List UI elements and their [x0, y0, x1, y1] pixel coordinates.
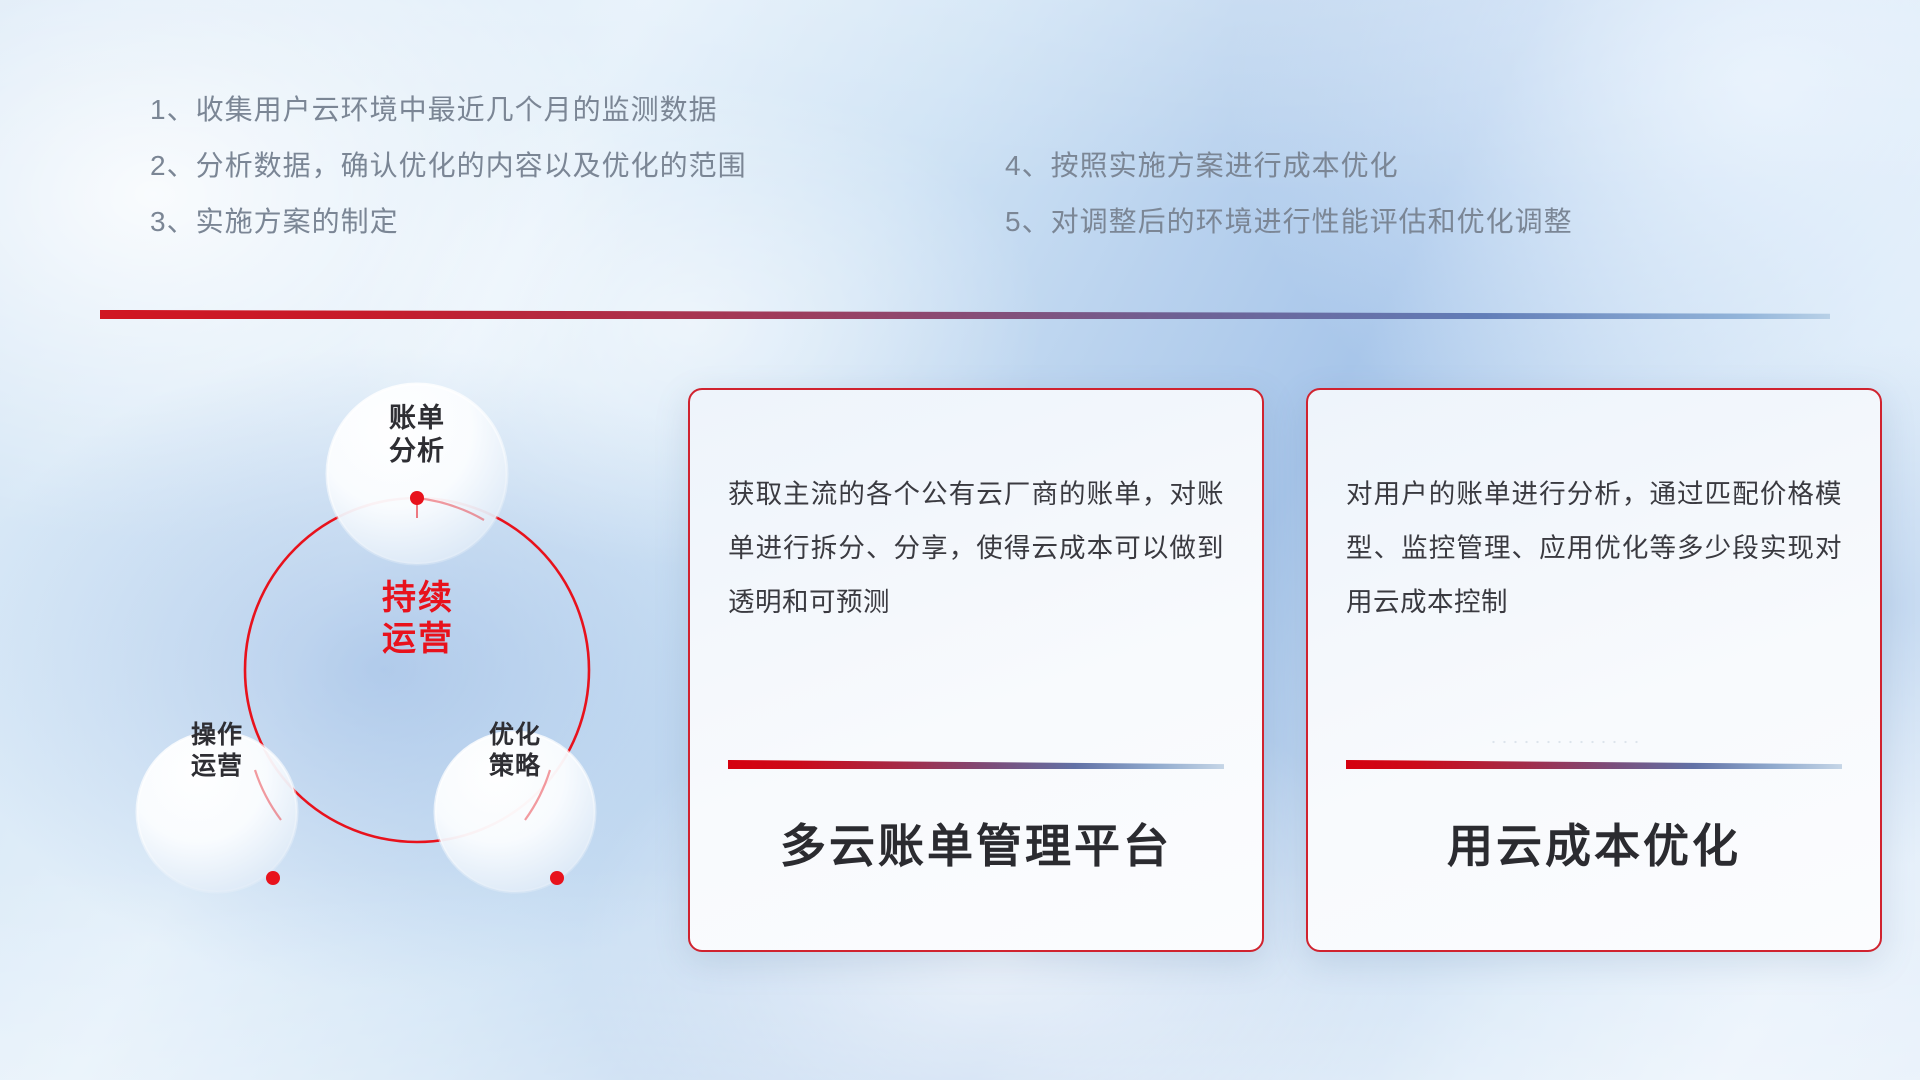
steps-list-region: 1、收集用户云环境中最近几个月的监测数据 2、分析数据，确认优化的内容以及优化的… — [0, 0, 1920, 250]
step-item-5: 5、对调整后的环境进行性能评估和优化调整 — [1005, 208, 1573, 236]
card-1-body-text: 获取主流的各个公有云厂商的账单，对账单进行拆分、分享，使得云成本可以做到透明和可… — [728, 468, 1224, 629]
venn-svg — [95, 350, 655, 950]
card-2-dot-texture — [1488, 738, 1638, 746]
step-item-1: 1、收集用户云环境中最近几个月的监测数据 — [150, 96, 747, 124]
venn-bubble-strategy — [435, 732, 595, 892]
step-item-3: 3、实施方案的制定 — [150, 208, 747, 236]
step-item-2: 2、分析数据，确认优化的内容以及优化的范围 — [150, 152, 747, 180]
section-divider-bar — [100, 310, 1830, 319]
venn-bubble-billing — [327, 384, 507, 564]
continuous-operations-venn-diagram: 账单 分析 操作 运营 优化 策略 持续 运营 — [95, 350, 655, 950]
card-cloud-cost-optimization[interactable]: 对用户的账单进行分析，通过匹配价格模型、监控管理、应用优化等多少段实现对用云成本… — [1306, 388, 1882, 952]
card-2-body-text: 对用户的账单进行分析，通过匹配价格模型、监控管理、应用优化等多少段实现对用云成本… — [1346, 468, 1842, 629]
card-multi-cloud-billing-platform[interactable]: 获取主流的各个公有云厂商的账单，对账单进行拆分、分享，使得云成本可以做到透明和可… — [688, 388, 1264, 952]
card-1-title: 多云账单管理平台 — [690, 810, 1262, 876]
card-2-title: 用云成本优化 — [1308, 810, 1880, 876]
venn-bubble-operations — [137, 732, 297, 892]
section-divider-gradient — [100, 310, 1830, 319]
venn-node-dot-bottom-right — [550, 871, 564, 885]
steps-column-right: 4、按照实施方案进行成本优化 5、对调整后的环境进行性能评估和优化调整 — [1005, 152, 1573, 264]
venn-node-dot-bottom-left — [266, 871, 280, 885]
step-item-4: 4、按照实施方案进行成本优化 — [1005, 152, 1573, 180]
steps-column-left: 1、收集用户云环境中最近几个月的监测数据 2、分析数据，确认优化的内容以及优化的… — [150, 96, 747, 264]
